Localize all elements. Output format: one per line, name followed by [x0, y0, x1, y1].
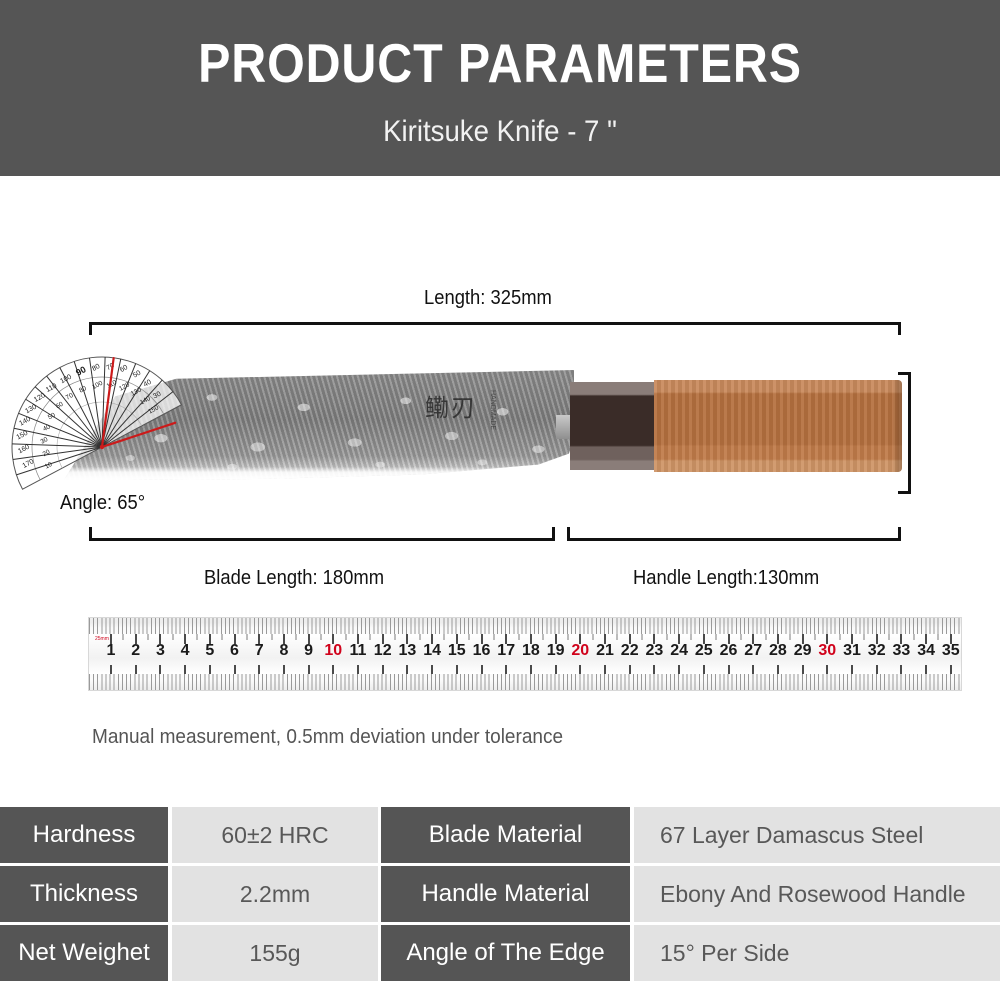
ruler-number: 10 — [324, 642, 342, 660]
ruler-number: 11 — [350, 642, 367, 660]
ruler-cm-tick — [184, 665, 186, 674]
ruler-half-tick — [864, 634, 865, 640]
ruler-cm-tick — [382, 665, 384, 674]
ruler-half-tick — [148, 634, 149, 640]
total-length-label: Length: 325mm — [424, 287, 552, 310]
ruler-number: 6 — [230, 642, 239, 660]
ruler-number: 12 — [374, 642, 392, 660]
ruler-number: 32 — [868, 642, 886, 660]
header-banner: PRODUCT PARAMETERS Kiritsuke Knife - 7 " — [0, 0, 1000, 176]
ruler-cm-tick — [481, 665, 483, 674]
ruler-cm-tick — [925, 665, 927, 674]
ruler-number: 15 — [448, 642, 466, 660]
ruler-number: 31 — [843, 642, 861, 660]
spec-row: Net Weighet155gAngle of The Edge15° Per … — [0, 925, 1000, 981]
ruler-cm-tick — [555, 665, 557, 674]
ruler-number: 30 — [818, 642, 836, 660]
ruler-half-tick — [296, 634, 297, 640]
ruler-half-tick — [370, 634, 371, 640]
ruler-half-tick — [913, 634, 914, 640]
ruler-cm-tick — [653, 665, 655, 674]
ruler-cm-tick — [406, 665, 408, 674]
ruler-half-tick — [691, 634, 692, 640]
ruler-cm-tick — [159, 665, 161, 674]
ebony-ferrule — [570, 382, 656, 470]
ruler-number: 16 — [473, 642, 491, 660]
bracket-bar — [89, 538, 555, 541]
blade-brand-text: HANDMADE — [489, 390, 496, 430]
ruler-number: 24 — [670, 642, 688, 660]
ruler-cm-tick — [851, 665, 853, 674]
ruler-half-tick — [567, 634, 568, 640]
ruler-cm-tick — [579, 665, 581, 674]
spec-value-cell: 155g — [172, 925, 378, 981]
ruler-cm-tick — [110, 665, 112, 674]
ruler-half-tick — [938, 634, 939, 640]
ruler-cm-tick — [703, 665, 705, 674]
ruler-number: 20 — [571, 642, 589, 660]
ruler-number: 7 — [255, 642, 264, 660]
ruler-cm-tick — [209, 665, 211, 674]
ruler-number: 19 — [547, 642, 565, 660]
blade-length-label: Blade Length: 180mm — [204, 567, 384, 590]
tolerance-note: Manual measurement, 0.5mm deviation unde… — [92, 726, 563, 749]
ruler-number: 33 — [892, 642, 910, 660]
ruler-half-tick — [444, 634, 445, 640]
ruler-half-tick — [790, 634, 791, 640]
bracket-tick-right — [898, 527, 901, 540]
spec-value-cell: Ebony And Rosewood Handle — [634, 866, 1000, 922]
ruler-cm-tick — [629, 665, 631, 674]
bracket-tick-right — [552, 527, 555, 540]
ruler-half-tick — [642, 634, 643, 640]
ruler-half-tick — [222, 634, 223, 640]
ruler-number: 1 — [107, 642, 116, 660]
ruler-half-tick — [814, 634, 815, 640]
ruler-half-tick — [716, 634, 717, 640]
product-parameters-page: PRODUCT PARAMETERS Kiritsuke Knife - 7 "… — [0, 0, 1000, 1000]
ruler-cm-tick — [950, 665, 952, 674]
ruler-cm-tick — [604, 665, 606, 674]
ruler-number: 27 — [744, 642, 762, 660]
ruler-cm-tick — [234, 665, 236, 674]
ruler-number: 34 — [917, 642, 935, 660]
reference-ruler: 25mm 12345678910111213141516171819202122… — [88, 617, 962, 691]
ruler-number: 25 — [695, 642, 713, 660]
ruler-half-tick — [197, 634, 198, 640]
ruler-half-tick — [419, 634, 420, 640]
ruler-cm-tick — [505, 665, 507, 674]
product-subtitle: Kiritsuke Knife - 7 " — [40, 115, 960, 149]
spec-value-cell: 60±2 HRC — [172, 807, 378, 863]
ruler-cm-tick — [308, 665, 310, 674]
ruler-half-tick — [123, 634, 124, 640]
spec-row: Hardness60±2 HRCBlade Material67 Layer D… — [0, 807, 1000, 863]
ruler-cm-tick — [357, 665, 359, 674]
ruler-number: 17 — [497, 642, 515, 660]
ruler-cm-tick — [456, 665, 458, 674]
ruler-half-tick — [493, 634, 494, 640]
ruler-cm-tick — [431, 665, 433, 674]
ruler-cm-tick — [900, 665, 902, 674]
ruler-number: 9 — [304, 642, 313, 660]
spec-key-cell: Net Weighet — [0, 925, 168, 981]
ruler-half-tick — [271, 634, 272, 640]
ruler-cm-tick — [530, 665, 532, 674]
edge-angle-label: Angle: 65° — [60, 492, 145, 515]
blade-width-label: Blade width 43mm — [941, 374, 1000, 462]
ruler-number: 13 — [398, 642, 416, 660]
rosewood-handle — [654, 380, 902, 472]
ruler-number: 22 — [621, 642, 639, 660]
spec-value-cell: 15° Per Side — [634, 925, 1000, 981]
ruler-number: 26 — [720, 642, 738, 660]
ruler-number: 5 — [205, 642, 214, 660]
blade-kanji-engraving: 鳓刃 — [425, 388, 477, 423]
ruler-number: 2 — [131, 642, 140, 660]
ruler-cm-tick — [135, 665, 137, 674]
ruler-half-tick — [592, 634, 593, 640]
spec-value-cell: 2.2mm — [172, 866, 378, 922]
ruler-cm-tick — [678, 665, 680, 674]
ruler-half-tick — [666, 634, 667, 640]
spec-row: Thickness2.2mmHandle MaterialEbony And R… — [0, 866, 1000, 922]
ruler-number: 8 — [279, 642, 288, 660]
spec-key-cell: Angle of The Edge — [381, 925, 630, 981]
ruler-number: 18 — [522, 642, 540, 660]
ruler-fine-ticks-top — [89, 618, 961, 634]
ruler-number: 28 — [769, 642, 787, 660]
spec-value-cell: 67 Layer Damascus Steel — [634, 807, 1000, 863]
ruler-cm-tick — [332, 665, 334, 674]
ruler-cm-tick — [728, 665, 730, 674]
ruler-half-tick — [469, 634, 470, 640]
spec-key-cell: Blade Material — [381, 807, 630, 863]
bracket-tick-left — [89, 527, 92, 540]
ruler-half-tick — [543, 634, 544, 640]
bracket-tick-left — [567, 527, 570, 540]
ruler-number: 23 — [645, 642, 663, 660]
bracket-tick-right — [898, 322, 901, 335]
bracket-bar — [89, 322, 901, 325]
ruler-half-tick — [765, 634, 766, 640]
blade-width-bracket — [908, 372, 911, 494]
handle-length-label: Handle Length:130mm — [633, 567, 819, 590]
ruler-half-tick — [889, 634, 890, 640]
page-title: PRODUCT PARAMETERS — [60, 31, 940, 95]
spec-key-cell: Thickness — [0, 866, 168, 922]
ruler-cm-tick — [258, 665, 260, 674]
ruler-number: 35 — [942, 642, 960, 660]
spec-table: Hardness60±2 HRCBlade Material67 Layer D… — [0, 807, 1000, 984]
ruler-half-tick — [246, 634, 247, 640]
spec-key-cell: Handle Material — [381, 866, 630, 922]
ruler-half-tick — [518, 634, 519, 640]
ruler-half-tick — [395, 634, 396, 640]
ruler-number: 29 — [794, 642, 812, 660]
ruler-half-tick — [320, 634, 321, 640]
ruler-fine-ticks-bottom — [89, 674, 961, 690]
bracket-bar — [567, 538, 901, 541]
ruler-half-tick — [839, 634, 840, 640]
spec-key-cell: Hardness — [0, 807, 168, 863]
ruler-number: 21 — [596, 642, 614, 660]
ruler-half-tick — [740, 634, 741, 640]
ruler-cm-tick — [283, 665, 285, 674]
ruler-cm-tick — [876, 665, 878, 674]
ruler-cm-tick — [802, 665, 804, 674]
ruler-number: 4 — [181, 642, 190, 660]
ruler-cm-tick — [777, 665, 779, 674]
ruler-half-tick — [172, 634, 173, 640]
ruler-number: 14 — [423, 642, 441, 660]
ruler-number: 3 — [156, 642, 165, 660]
ruler-half-tick — [617, 634, 618, 640]
ruler-cm-tick — [752, 665, 754, 674]
ruler-half-tick — [345, 634, 346, 640]
ruler-cm-tick — [826, 665, 828, 674]
